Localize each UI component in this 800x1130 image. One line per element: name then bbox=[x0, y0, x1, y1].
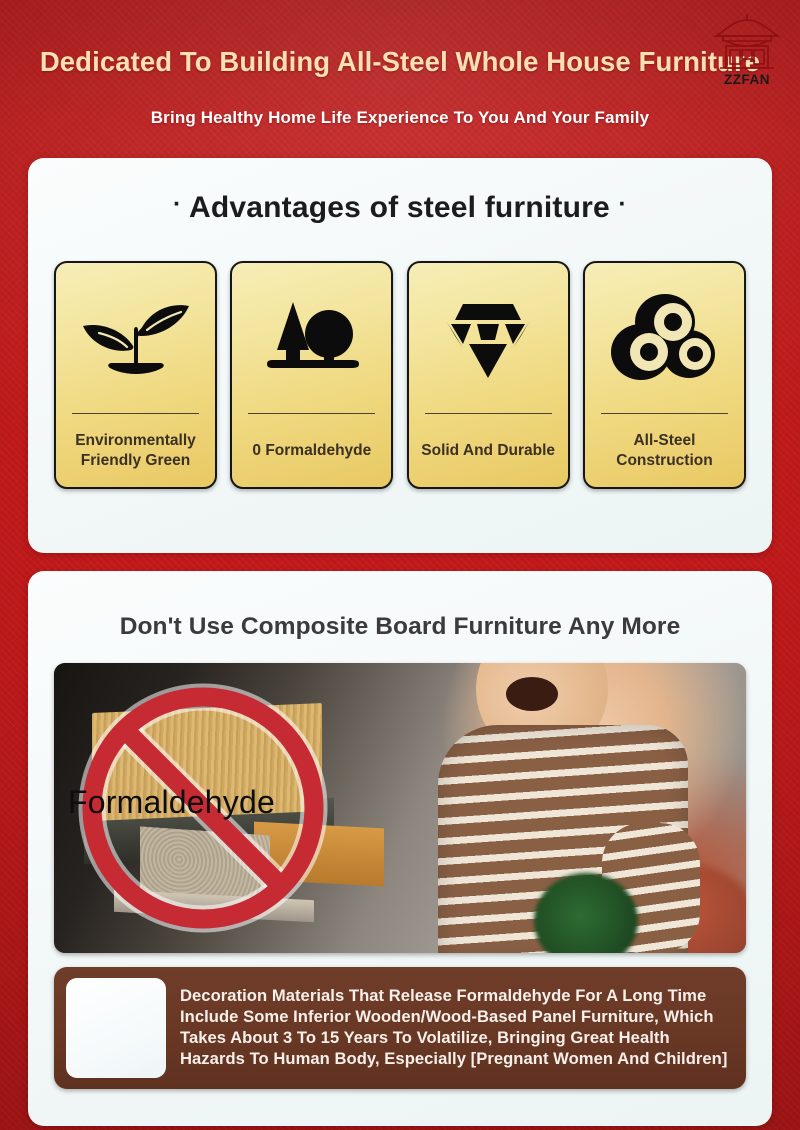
advantage-tile[interactable]: 0 Formaldehyde bbox=[230, 261, 393, 489]
brand-logo: ZZFAN bbox=[708, 10, 786, 88]
warning-caption-text: Decoration Materials That Release Formal… bbox=[180, 986, 734, 1070]
pagoda-icon bbox=[708, 10, 786, 72]
warning-card: Don't Use Composite Board Furniture Any … bbox=[28, 571, 772, 1126]
warning-photo: Formaldehyde bbox=[54, 663, 746, 953]
page-title: Dedicated To Building All-Steel Whole Ho… bbox=[0, 46, 800, 78]
advantages-card: · Advantages of steel furniture · bbox=[28, 158, 772, 553]
advantage-tile[interactable]: Solid And Durable bbox=[407, 261, 570, 489]
page-content: Dedicated To Building All-Steel Whole Ho… bbox=[0, 0, 800, 1126]
advantage-tile-label: Solid And Durable bbox=[419, 414, 557, 487]
advantage-tile-label: All-Steel Construction bbox=[585, 414, 744, 487]
formaldehyde-label: Formaldehyde bbox=[68, 784, 275, 821]
heading-dot-right: · bbox=[618, 190, 627, 218]
advantages-heading-text: Advantages of steel furniture bbox=[189, 191, 610, 224]
diamond-gem-icon bbox=[409, 263, 568, 413]
steel-pipes-icon bbox=[585, 263, 744, 413]
page-subtitle: Bring Healthy Home Life Experience To Yo… bbox=[0, 108, 800, 128]
heading-dot-left: · bbox=[173, 190, 182, 218]
advantage-tile-label: 0 Formaldehyde bbox=[250, 414, 373, 487]
advantage-tile[interactable]: All-Steel Construction bbox=[583, 261, 746, 489]
advantage-tile[interactable]: Environmentally Friendly Green bbox=[54, 261, 217, 489]
advantage-tiles: Environmentally Friendly Green 0 Fo bbox=[28, 225, 772, 489]
tree-shrub-icon bbox=[232, 263, 391, 413]
photo-child-mouth bbox=[506, 677, 558, 711]
logo-text: ZZFAN bbox=[708, 72, 786, 87]
warning-heading: Don't Use Composite Board Furniture Any … bbox=[28, 571, 772, 641]
advantages-heading: · Advantages of steel furniture · bbox=[28, 158, 772, 225]
advantage-tile-label: Environmentally Friendly Green bbox=[56, 414, 215, 487]
image-placeholder bbox=[66, 978, 166, 1078]
sprout-plant-icon bbox=[56, 263, 215, 413]
page-header: Dedicated To Building All-Steel Whole Ho… bbox=[0, 0, 800, 158]
warning-caption-bar: Decoration Materials That Release Formal… bbox=[54, 967, 746, 1089]
